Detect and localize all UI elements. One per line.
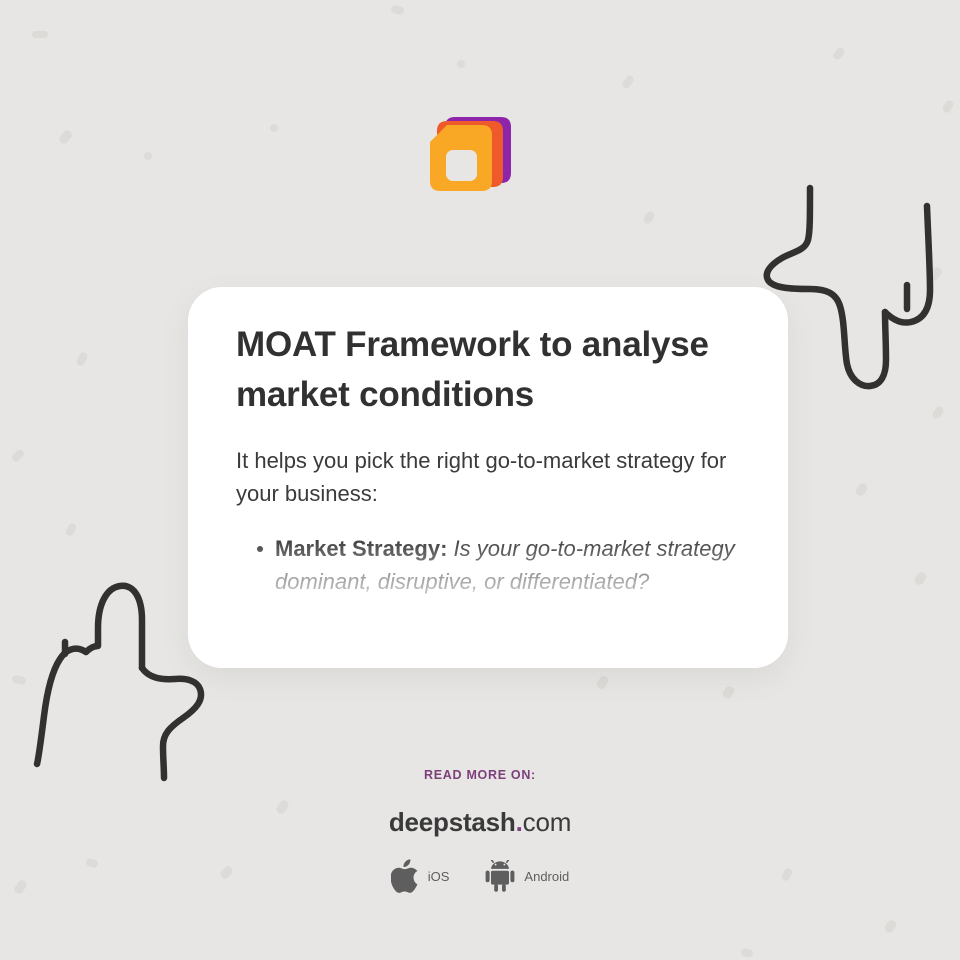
confetti-dash xyxy=(941,99,954,114)
footer: READ MORE ON: deepstash.com iOS xyxy=(0,768,960,893)
confetti-dash xyxy=(913,571,928,587)
read-more-label: READ MORE ON: xyxy=(0,768,960,782)
android-store-label: Android xyxy=(524,869,569,884)
confetti-dash xyxy=(883,919,898,935)
confetti-dash xyxy=(931,405,945,420)
ios-store-label: iOS xyxy=(428,869,450,884)
idea-card: MOAT Framework to analyse market conditi… xyxy=(188,287,788,668)
card-content: MOAT Framework to analyse market conditi… xyxy=(236,320,756,598)
confetti-dash xyxy=(270,124,278,132)
card-lead-text: It helps you pick the right go-to-market… xyxy=(236,444,756,510)
idea-bullet-list: Market Strategy: Is your go-to-market st… xyxy=(236,532,756,598)
confetti-dash xyxy=(32,31,48,39)
confetti-dash xyxy=(621,74,635,90)
confetti-dash xyxy=(832,46,846,61)
brand-dot: . xyxy=(516,807,523,837)
app-store-links: iOS Android xyxy=(0,859,960,893)
confetti-dash xyxy=(64,522,77,537)
apple-icon xyxy=(391,859,419,893)
confetti-dash xyxy=(390,5,405,16)
brand-tld: com xyxy=(523,807,572,837)
logo-glyph xyxy=(425,103,521,199)
android-icon xyxy=(485,860,515,892)
brand-name: deepstash xyxy=(389,807,516,837)
confetti-dash xyxy=(58,129,74,146)
confetti-dash xyxy=(854,482,869,498)
confetti-dash xyxy=(928,266,944,283)
list-item: Market Strategy: Is your go-to-market st… xyxy=(275,532,756,598)
brand-wordmark[interactable]: deepstash.com xyxy=(0,809,960,835)
confetti-dash xyxy=(457,60,465,68)
page-title: MOAT Framework to analyse market conditi… xyxy=(236,320,756,420)
confetti-dash xyxy=(143,151,153,161)
deepstash-logo xyxy=(425,103,521,199)
android-store-link[interactable]: Android xyxy=(485,860,569,892)
ios-store-link[interactable]: iOS xyxy=(391,859,450,893)
confetti-dash xyxy=(740,948,753,958)
confetti-dash xyxy=(11,675,26,686)
confetti-dash xyxy=(595,675,610,691)
bullet-lead-label: Market Strategy: xyxy=(275,536,447,561)
confetti-dash xyxy=(642,210,656,225)
poster-canvas: MOAT Framework to analyse market conditi… xyxy=(0,0,960,960)
confetti-dash xyxy=(11,448,26,463)
confetti-dash xyxy=(721,685,736,701)
confetti-dash xyxy=(75,351,89,367)
